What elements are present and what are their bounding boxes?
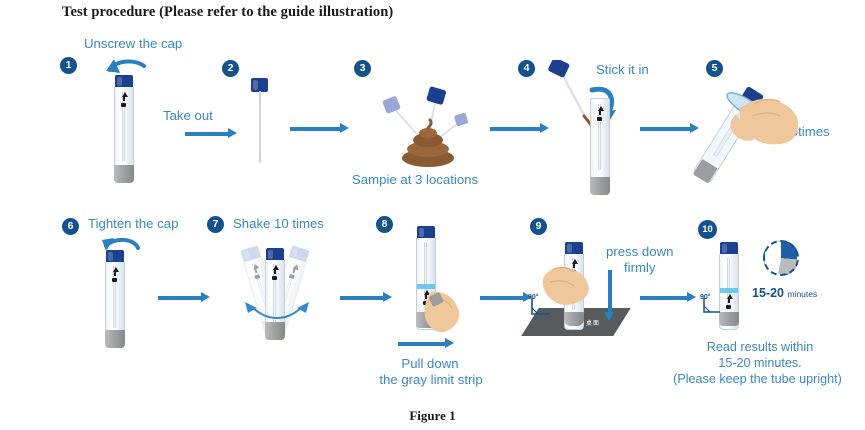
step-badge-7: 7 xyxy=(207,216,224,233)
unscrew-arrow-icon xyxy=(104,56,148,76)
step-label-2: Take out xyxy=(163,108,213,125)
step-label-3: Sampie at 3 locations xyxy=(352,172,478,189)
pull-strip-hand-icon xyxy=(424,288,468,332)
step-badge-3: 3 xyxy=(354,60,371,77)
arrow-9-to-10 xyxy=(640,292,696,303)
tube-icon-step10 xyxy=(718,242,740,330)
step-badge-9: 9 xyxy=(530,218,547,235)
step-label-1: Unscrew the cap xyxy=(84,36,182,53)
tube-icon-step4 xyxy=(589,98,611,196)
step-label-10-line1: Read results within xyxy=(655,340,865,356)
shake-double-arrow-icon xyxy=(241,300,313,326)
step-badge-5: 5 xyxy=(706,60,723,77)
arrow-7-to-8 xyxy=(340,292,392,303)
arrow-1-to-2 xyxy=(185,128,237,139)
step-label-8-line2: the gray limit strip xyxy=(358,372,504,389)
angle-label-step9: 90° xyxy=(528,294,539,301)
step-badge-6: 6 xyxy=(62,218,79,235)
timer-value: 15-20 xyxy=(752,286,784,300)
step-label-7: Shake 10 times xyxy=(233,216,324,233)
press-down-hand-icon xyxy=(540,262,592,310)
tube-icon-shake-center xyxy=(264,248,286,340)
tube-icon-step6 xyxy=(104,250,126,348)
tube-icon-step1 xyxy=(113,75,135,183)
arrow-4-to-5 xyxy=(640,123,700,134)
step-label-6: Tighten the cap xyxy=(88,216,178,233)
timer-unit: minutes xyxy=(787,289,817,299)
arrow-3-to-4 xyxy=(490,123,550,134)
step-label-9-line2: firmly xyxy=(624,260,656,277)
arrow-8-to-9 xyxy=(480,292,532,303)
stool-sample-icon xyxy=(370,78,490,168)
hand-stirring-icon xyxy=(692,78,822,196)
page-title: Test procedure (Please refer to the guid… xyxy=(62,4,393,21)
timer-clock-icon xyxy=(763,240,799,276)
step-label-8-line1: Pull down xyxy=(370,356,490,373)
step-label-10-line3: (Please keep the tube upright) xyxy=(650,372,865,388)
arrow-8-pull-direction xyxy=(398,338,454,349)
angle-label-step10: 90° xyxy=(700,294,711,301)
step-badge-1: 1 xyxy=(60,57,77,74)
step-badge-4: 4 xyxy=(518,60,535,77)
figure-caption: Figure 1 xyxy=(0,408,865,424)
arrow-2-to-3 xyxy=(290,123,350,134)
step-badge-2: 2 xyxy=(222,60,239,77)
step-label-9-line1: press down xyxy=(606,244,673,261)
swab-stick-icon xyxy=(251,78,269,164)
step-label-10-line2: 15-20 minutes. xyxy=(655,356,865,372)
arrow-6-to-7 xyxy=(158,292,210,303)
press-down-arrow-icon xyxy=(604,270,615,312)
procedure-diagram: Test procedure (Please refer to the guid… xyxy=(0,0,865,430)
table-surface-label: 桌面 xyxy=(586,318,600,327)
step-badge-10: 10 xyxy=(698,220,717,239)
step-badge-8: 8 xyxy=(376,216,393,233)
timer-duration-label: 15-20 minutes xyxy=(752,286,817,300)
